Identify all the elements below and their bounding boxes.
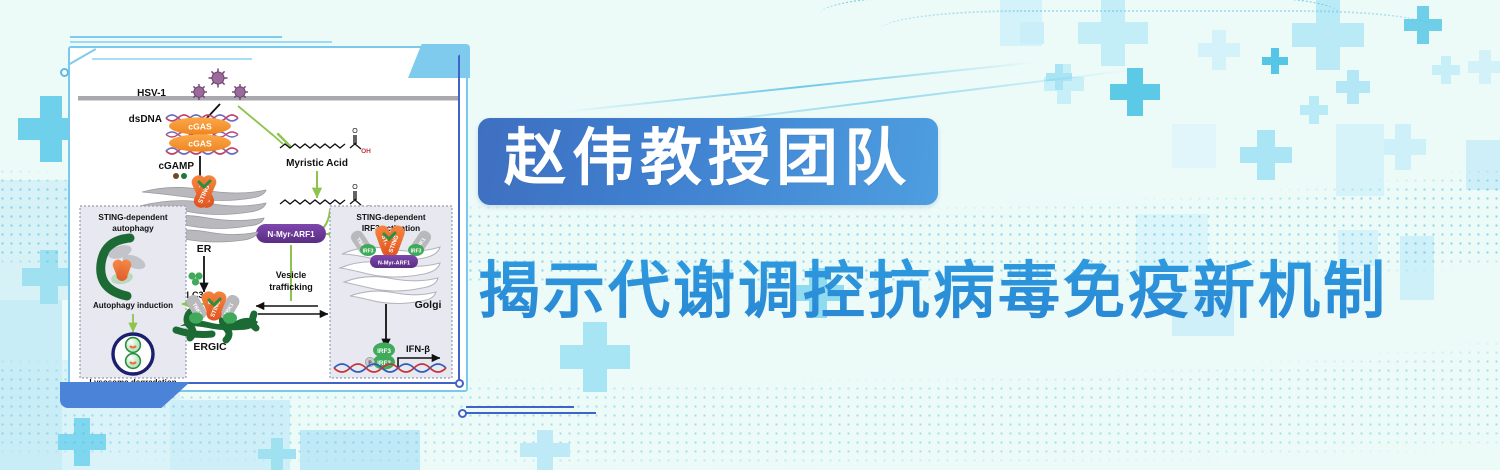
bg-cross-icon — [1198, 30, 1240, 70]
label-oxygen-1: O — [352, 128, 358, 135]
bg-cross-icon — [258, 438, 296, 470]
svg-text:IRF3: IRF3 — [411, 249, 422, 255]
page-subtitle: 揭示代谢调控抗病毒免疫新机制 — [478, 240, 1388, 330]
cgas-dsdna-complex: cGAS cGAS dsDNA — [129, 114, 238, 154]
label-oxygen-2: O — [352, 184, 358, 191]
label-hsv1: HSV-1 — [137, 88, 166, 99]
label-cgamp: cGAMP — [158, 161, 194, 172]
bg-cross-icon — [1044, 64, 1084, 104]
panel-sting-irf3: STING-dependent IRF3 activation TBK1 — [330, 206, 452, 378]
ergic-organelle: TBK1 TBK1 STING STING — [176, 289, 258, 353]
cgamp-group: cGAMP — [158, 161, 194, 179]
page-title: 赵伟教授团队 — [504, 127, 912, 191]
bg-cross-icon — [1300, 96, 1328, 124]
bg-square — [1336, 124, 1384, 196]
svg-text:IRF3: IRF3 — [363, 249, 374, 255]
bg-cross-icon — [1110, 68, 1160, 116]
bg-square — [1000, 0, 1042, 46]
label-ergic: ERGIC — [193, 341, 227, 353]
label-nmyrarf1-complex: N-Myr-ARF1 — [378, 260, 410, 266]
frame-trail-node-circle — [458, 409, 467, 418]
frame-trail-line — [466, 406, 574, 408]
bg-square — [170, 400, 290, 470]
panel-left-step-1: Autophagy induction — [93, 301, 173, 310]
panel-sting-autophagy: STING-dependent autophagy — [80, 206, 186, 382]
swoosh-arc — [1040, 0, 1500, 100]
line-virus-to-myristate — [238, 106, 274, 136]
label-myristic-acid: Myristic Acid — [286, 158, 348, 169]
bg-cross-icon — [1292, 0, 1364, 70]
bg-square — [0, 300, 62, 470]
lysosome — [113, 334, 153, 374]
bg-cross-icon — [1404, 6, 1442, 44]
frame-corner-notch-bottom-left — [60, 382, 190, 408]
pathway-diagram: HSV-1 — [78, 56, 458, 382]
frame-accent-line — [70, 36, 282, 38]
panel-left-step-2: Lysosome degradation — [89, 378, 176, 382]
bg-cross-icon — [1240, 130, 1292, 180]
pill-n-myr-arf1: N-Myr-ARF1 — [256, 224, 326, 243]
frame-accent-line — [70, 41, 332, 43]
bg-square — [1172, 124, 1216, 168]
label-ifn-beta: IFN-β — [406, 343, 430, 354]
bg-cross-icon — [58, 418, 106, 466]
virus-particles: HSV-1 — [137, 69, 248, 101]
panel-left-title-line2: autophagy — [112, 224, 154, 233]
label-golgi: Golgi — [415, 299, 442, 311]
svg-text:IRF3: IRF3 — [377, 348, 391, 355]
frame-trail-line — [466, 412, 596, 414]
hairline-sweep — [561, 61, 1039, 113]
frame-node-circle — [60, 68, 69, 77]
myristic-acid-structure: O OH Myristic Acid — [280, 128, 371, 169]
bg-square — [1020, 22, 1044, 44]
bg-cross-icon — [1468, 50, 1500, 84]
label-n-myr-arf1: N-Myr-ARF1 — [267, 230, 315, 239]
label-vesicle-trafficking-line1: Vesicle — [276, 270, 307, 280]
bg-cross-icon — [1380, 124, 1426, 170]
bg-cross-icon — [1046, 64, 1072, 90]
dotted-arc — [880, 10, 1440, 50]
label-er: ER — [197, 243, 212, 255]
dotted-arc — [820, 0, 1340, 34]
banner-root: HSV-1 — [0, 0, 1500, 470]
bg-cross-icon — [560, 322, 630, 392]
label-cgas-1: cGAS — [188, 122, 212, 132]
bg-square — [1400, 236, 1434, 300]
bg-cross-icon — [520, 430, 570, 470]
bg-square — [1466, 140, 1500, 190]
bg-cross-icon — [1078, 0, 1148, 66]
label-cgas-2: cGAS — [188, 139, 212, 149]
title-chip: 赵伟教授团队 — [478, 118, 938, 205]
panel-right-title-line1: STING-dependent — [356, 213, 425, 222]
figure-frame: HSV-1 — [68, 46, 468, 392]
bg-square — [300, 430, 420, 470]
bg-cross-icon — [1336, 70, 1370, 104]
bg-cross-icon — [1262, 48, 1288, 74]
bg-cross-icon — [1432, 56, 1460, 84]
panel-left-title-line1: STING-dependent — [98, 213, 167, 222]
label-oh: OH — [361, 148, 371, 155]
label-vesicle-trafficking-line2: trafficking — [269, 282, 313, 292]
label-dsdna: dsDNA — [129, 114, 162, 125]
